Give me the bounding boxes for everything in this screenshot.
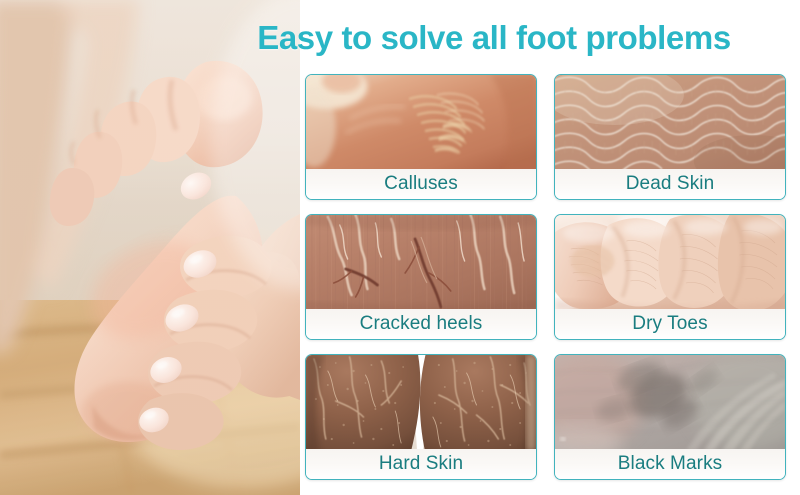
- promo-banner: Easy to solve all foot problems: [0, 0, 800, 495]
- problem-card-label: Cracked heels: [306, 309, 536, 339]
- foot-problem-grid: Calluses: [305, 74, 786, 480]
- problem-card-label: Dry Toes: [555, 309, 785, 339]
- problem-card-dead-skin[interactable]: Dead Skin: [554, 74, 786, 200]
- problem-card-label: Black Marks: [555, 449, 785, 479]
- problem-card-black-marks[interactable]: Black Marks: [554, 354, 786, 480]
- problem-card-cracked-heels[interactable]: Cracked heels: [305, 214, 537, 340]
- problem-card-hard-skin[interactable]: Hard Skin: [305, 354, 537, 480]
- dry-toes-photo: [555, 215, 785, 311]
- page-title: Easy to solve all foot problems: [196, 19, 792, 57]
- black-marks-skin-photo: [555, 355, 785, 451]
- foot-care-photo: [0, 0, 300, 495]
- cracked-heel-photo: [306, 215, 536, 311]
- flaking-dead-skin-photo: [555, 75, 785, 171]
- problem-card-label: Dead Skin: [555, 169, 785, 199]
- callused-heel-photo: [306, 75, 536, 171]
- problem-card-dry-toes[interactable]: Dry Toes: [554, 214, 786, 340]
- problem-card-label: Hard Skin: [306, 449, 536, 479]
- hard-skin-heels-photo: [306, 355, 536, 451]
- problem-card-label: Calluses: [306, 169, 536, 199]
- problem-card-calluses[interactable]: Calluses: [305, 74, 537, 200]
